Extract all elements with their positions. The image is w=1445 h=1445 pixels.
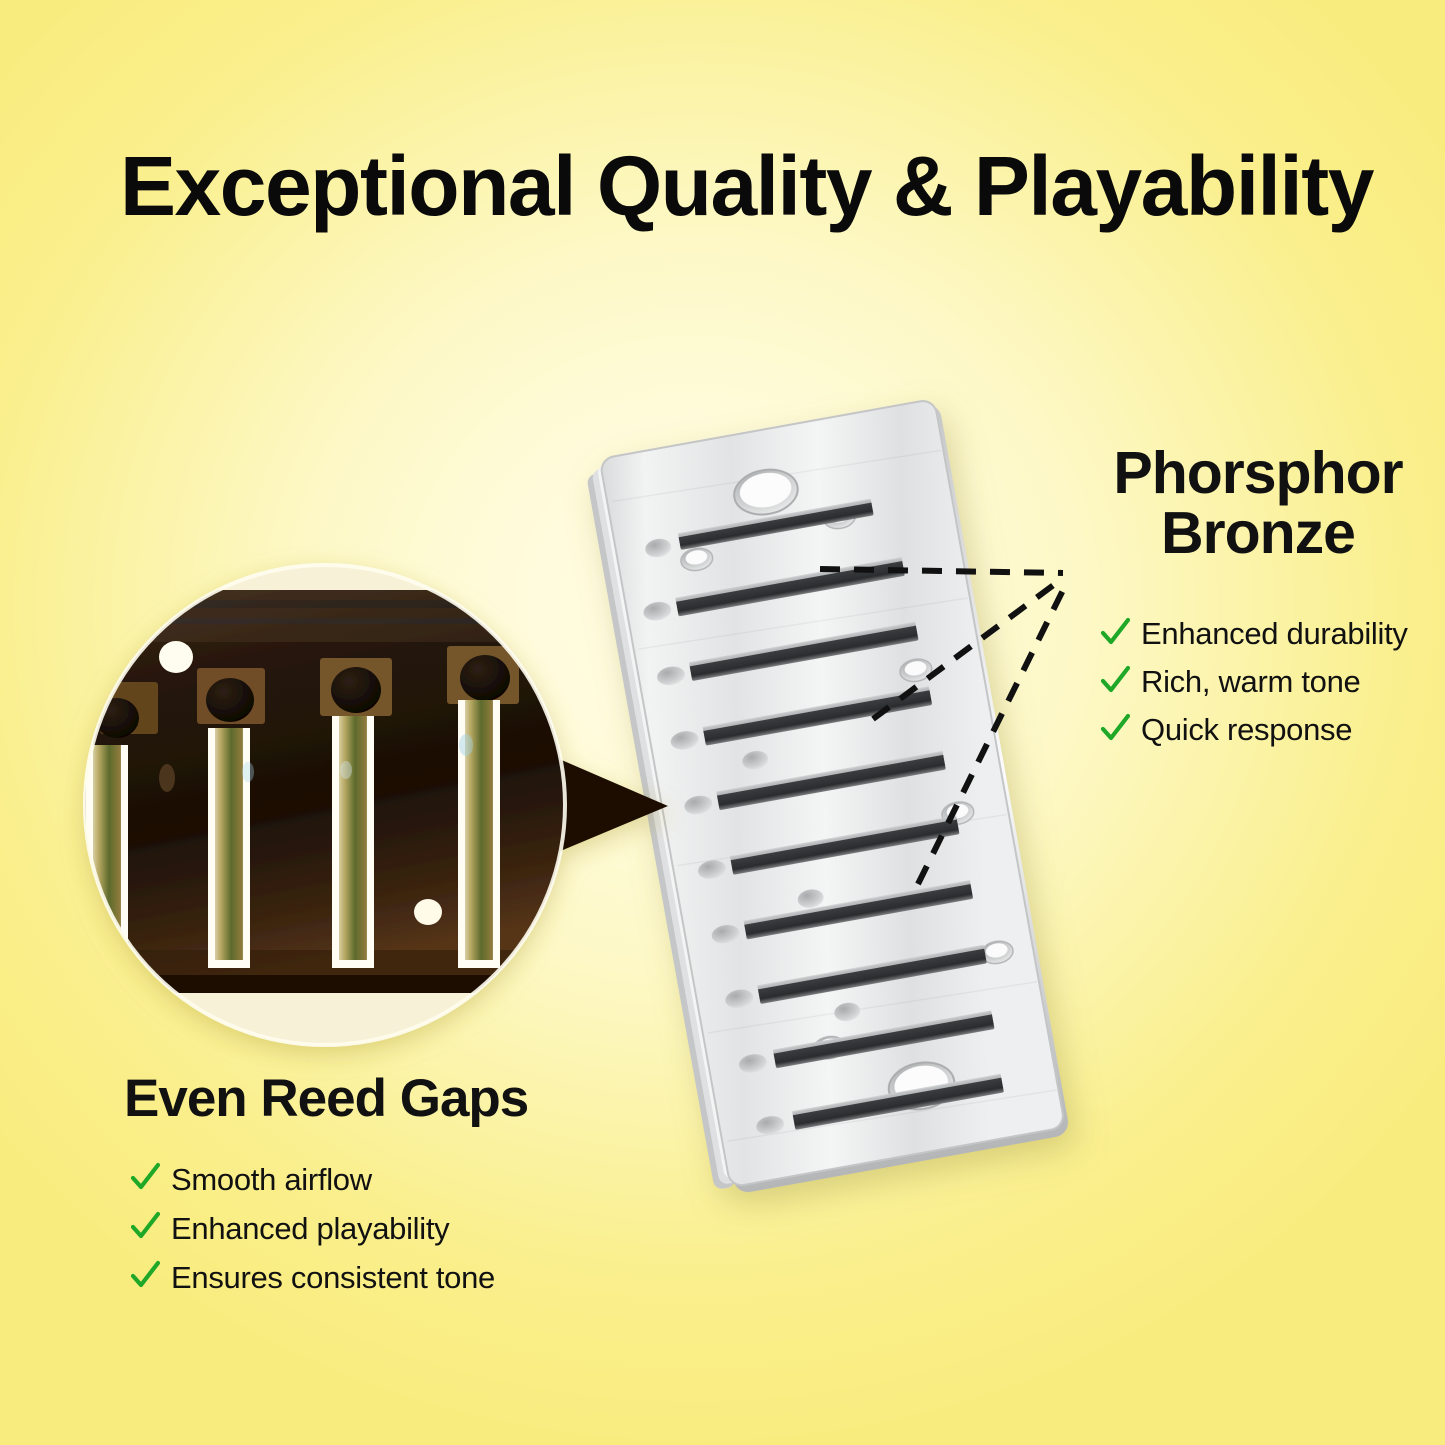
reed-slots [631, 493, 1010, 1140]
callout-leader-lines [820, 569, 1067, 884]
feature-bullets-even-reed-gaps: Smooth airflow Enhanced playability Ensu… [128, 1155, 495, 1302]
magnifier-circle [85, 565, 565, 1045]
check-icon [1098, 663, 1132, 702]
bullet-label: Enhanced playability [171, 1211, 449, 1247]
highlight-spot [159, 641, 193, 673]
bullet-label: Quick response [1141, 712, 1352, 748]
magnifier-pointer [520, 742, 668, 868]
promo-graphic: Exceptional Quality & Playability Phorsp… [0, 0, 1445, 1445]
feature-heading-even-reed-gaps: Even Reed Gaps [124, 1072, 528, 1126]
list-item: Enhanced playability [128, 1204, 495, 1253]
feature-heading-phorsphor-bronze: Phorsphor Bronze [1078, 443, 1438, 563]
feature-bullets-phorsphor-bronze: Enhanced durability Rich, warm tone Quic… [1098, 610, 1408, 754]
feature-heading-line-1: Phorsphor [1078, 443, 1438, 503]
check-icon [128, 1209, 162, 1248]
page-title: Exceptional Quality & Playability [120, 138, 1373, 235]
bullet-label: Smooth airflow [171, 1162, 372, 1198]
check-icon [1098, 615, 1132, 654]
reed-plate-body [584, 398, 1071, 1198]
check-icon [128, 1160, 162, 1199]
reed-gaps [86, 700, 500, 968]
list-item: Quick response [1098, 706, 1408, 754]
feature-heading-line-2: Bronze [1078, 503, 1438, 563]
check-icon [128, 1258, 162, 1297]
highlight-spot [414, 899, 442, 925]
reed-rivet-pads [95, 646, 519, 738]
bullet-label: Rich, warm tone [1141, 664, 1360, 700]
list-item: Enhanced durability [1098, 610, 1408, 658]
list-item: Smooth airflow [128, 1155, 495, 1204]
list-item: Ensures consistent tone [128, 1253, 495, 1302]
list-item: Rich, warm tone [1098, 658, 1408, 706]
check-icon [1098, 711, 1132, 750]
bullet-label: Enhanced durability [1141, 616, 1408, 652]
bullet-label: Ensures consistent tone [171, 1260, 495, 1296]
